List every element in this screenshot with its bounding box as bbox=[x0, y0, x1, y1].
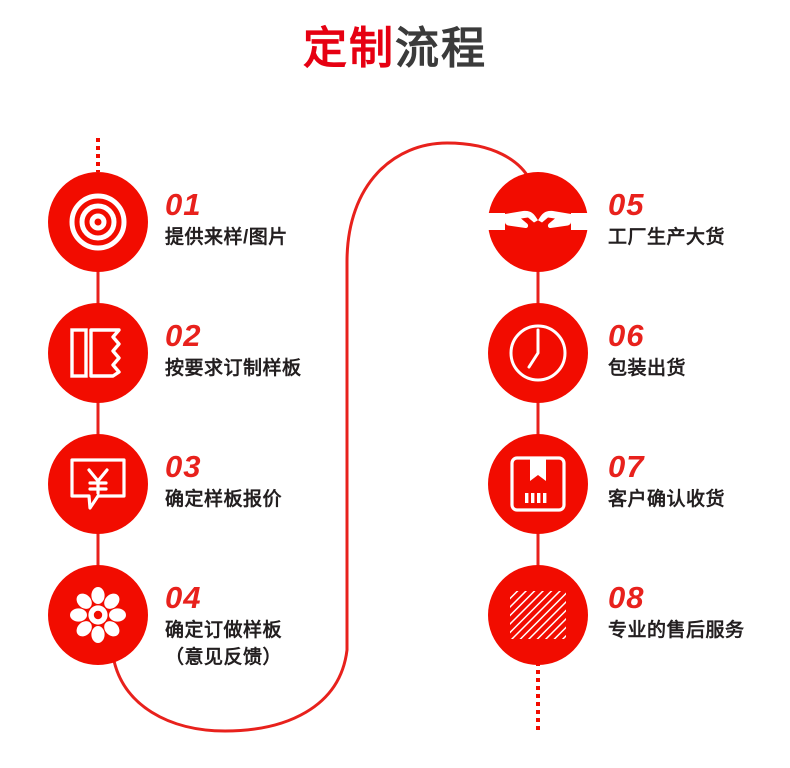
step-08-label: 专业的售后服务 bbox=[608, 617, 745, 644]
step-07-label: 客户确认收货 bbox=[608, 486, 725, 513]
step-02-bubble[interactable] bbox=[48, 303, 148, 403]
step-07-bubble[interactable] bbox=[488, 434, 588, 534]
step-06-bubble[interactable] bbox=[488, 303, 588, 403]
step-06-label: 包装出货 bbox=[608, 355, 686, 382]
step-08-text: 08 专业的售后服务 bbox=[608, 581, 745, 644]
step-01-text: 01 提供来样/图片 bbox=[165, 188, 288, 251]
step-02-label: 按要求订制样板 bbox=[165, 355, 302, 382]
step-03-label: 确定样板报价 bbox=[165, 486, 282, 513]
page-title: 定制流程 bbox=[0, 20, 790, 78]
flower-rosette-icon bbox=[70, 587, 126, 643]
step-05-label: 工厂生产大货 bbox=[608, 224, 725, 251]
step-04-text: 04 确定订做样板 （意见反馈） bbox=[165, 581, 282, 671]
step-03-number: 03 bbox=[165, 450, 282, 484]
package-box-icon bbox=[509, 455, 567, 513]
step-07-number: 07 bbox=[608, 450, 725, 484]
step-06-text: 06 包装出货 bbox=[608, 319, 686, 382]
step-01-label: 提供来样/图片 bbox=[165, 224, 288, 251]
step-01-bubble[interactable] bbox=[48, 172, 148, 272]
step-08-number: 08 bbox=[608, 581, 745, 615]
step-06-number: 06 bbox=[608, 319, 686, 353]
clock-icon bbox=[507, 322, 569, 384]
page-title-red-part: 定制 bbox=[303, 24, 395, 73]
step-02-text: 02 按要求订制样板 bbox=[165, 319, 302, 382]
step-07-text: 07 客户确认收货 bbox=[608, 450, 725, 513]
customization-process-infographic: 定制流程 01 提供来样/图片 bbox=[0, 0, 790, 768]
step-05-text: 05 工厂生产大货 bbox=[608, 188, 725, 251]
target-icon bbox=[67, 191, 129, 253]
step-05-number: 05 bbox=[608, 188, 725, 222]
step-01-number: 01 bbox=[165, 188, 288, 222]
hatched-square-icon bbox=[509, 590, 567, 640]
handshake-icon bbox=[481, 205, 595, 239]
fabric-swatch-icon bbox=[69, 326, 127, 380]
step-08-bubble[interactable] bbox=[488, 565, 588, 665]
step-04-bubble[interactable] bbox=[48, 565, 148, 665]
step-04-label: 确定订做样板 bbox=[165, 617, 282, 644]
step-03-text: 03 确定样板报价 bbox=[165, 450, 282, 513]
step-03-bubble[interactable] bbox=[48, 434, 148, 534]
price-quote-bubble-icon bbox=[68, 456, 128, 512]
step-04-label-secondary: （意见反馈） bbox=[165, 644, 282, 671]
step-05-bubble[interactable] bbox=[488, 172, 588, 272]
step-04-number: 04 bbox=[165, 581, 282, 615]
page-title-dark-part: 流程 bbox=[395, 24, 487, 73]
step-02-number: 02 bbox=[165, 319, 302, 353]
